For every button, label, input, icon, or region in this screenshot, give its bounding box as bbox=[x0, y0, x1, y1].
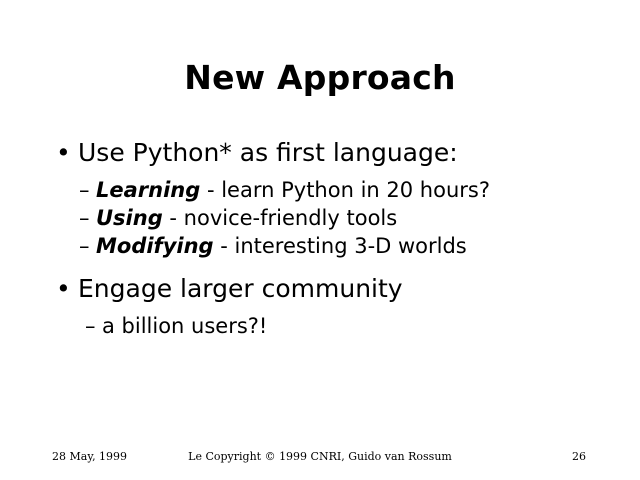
sub-bullet-keyword: Modifying bbox=[96, 234, 214, 258]
sub-bullet-text: - novice-friendly tools bbox=[163, 206, 397, 230]
slide-body: • Use Python* as first language: – Learn… bbox=[0, 136, 640, 340]
sub-bullet-item-using: – Using - novice-friendly tools bbox=[0, 204, 640, 232]
footer-page-number: 26 bbox=[572, 450, 586, 464]
sub-bullet-keyword: Using bbox=[96, 206, 163, 230]
sub-bullet-item-modifying: – Modifying - interesting 3-D worlds bbox=[0, 232, 640, 260]
sub-bullet-item-billion-users: – a billion users?! bbox=[0, 312, 640, 340]
presentation-slide: New Approach • Use Python* as first lang… bbox=[0, 0, 640, 480]
slide-footer: 28 May, 1999 Le Copyright © 1999 CNRI, G… bbox=[0, 450, 640, 468]
bullet-item-use-python: • Use Python* as first language: bbox=[0, 136, 640, 170]
footer-copyright: Le Copyright © 1999 CNRI, Guido van Ross… bbox=[0, 450, 640, 464]
bullet-dot-icon: • bbox=[56, 136, 71, 170]
bullet-dash-icon: – bbox=[79, 204, 90, 232]
bullet-dash-icon: – bbox=[79, 232, 90, 260]
bullet-text: Use Python* as first language: bbox=[78, 138, 458, 167]
slide-title: New Approach bbox=[0, 58, 640, 98]
sub-bullet-keyword: Learning bbox=[96, 178, 200, 202]
bullet-dash-icon: – bbox=[79, 176, 90, 204]
bullet-item-engage-community: • Engage larger community bbox=[0, 272, 640, 306]
bullet-text: Engage larger community bbox=[78, 274, 403, 303]
sub-bullet-text: a billion users?! bbox=[102, 314, 267, 338]
sub-bullet-text: - interesting 3-D worlds bbox=[214, 234, 467, 258]
sub-bullet-text: - learn Python in 20 hours? bbox=[200, 178, 490, 202]
bullet-dot-icon: • bbox=[56, 272, 71, 306]
sub-bullet-item-learning: – Learning - learn Python in 20 hours? bbox=[0, 176, 640, 204]
bullet-dash-icon: – bbox=[85, 312, 96, 340]
